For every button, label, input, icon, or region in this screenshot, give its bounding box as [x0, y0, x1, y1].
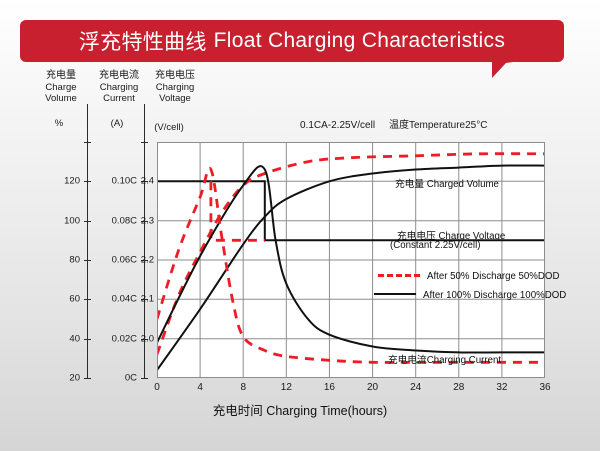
axis-unit-voltage: (V/cell): [140, 122, 198, 133]
axis-tick-label-volume: 60: [36, 294, 80, 305]
axis-tick-mark: [84, 260, 91, 261]
x-axis-tick-label: 32: [489, 382, 515, 393]
x-axis-tick-label: 28: [446, 382, 472, 393]
condition-rate: 0.1CA-2.25V/cell: [300, 120, 375, 131]
title-en: Float Charging Characteristics: [214, 29, 505, 53]
axis-tick-label-volume: 80: [36, 255, 80, 266]
series-line: [157, 165, 545, 370]
x-axis-title: 充电时间 Charging Time(hours): [0, 400, 600, 419]
chart-page: 浮充特性曲线Float Charging Characteristics 充电量…: [0, 0, 600, 451]
axis-header-volume-en1: Charge: [32, 82, 90, 94]
axis-header-volume-en2: Volume: [32, 93, 90, 105]
axis-header-charging-voltage: 充电电压 Charging Voltage: [146, 70, 204, 105]
x-axis-tick-label: 4: [187, 382, 213, 393]
axis-header-voltage-cn: 充电电压: [146, 70, 204, 82]
x-axis-tick-label: 36: [532, 382, 558, 393]
axis-tick-mark: [141, 142, 148, 143]
x-axis-tick-label: 8: [230, 382, 256, 393]
title-banner: 浮充特性曲线Float Charging Characteristics: [20, 20, 564, 62]
axis-tick-label-voltage: 2.4: [110, 176, 154, 187]
axis-tick-mark: [141, 378, 148, 379]
x-axis-title-cn: 充电时间: [213, 404, 263, 418]
axis-tick-mark: [84, 299, 91, 300]
x-axis-tick-label: 24: [403, 382, 429, 393]
axis-header-current-cn: 充电电流: [90, 70, 148, 82]
banner-tail-icon: [492, 59, 532, 78]
axis-tick-label-volume: 120: [36, 176, 80, 187]
axis-header-charging-current: 充电电流 Charging Current: [90, 70, 148, 105]
annotation-charged-volume: 充电量 Charged Volume: [395, 176, 499, 190]
condition-note: 0.1CA-2.25V/cell 温度Temperature25°C: [300, 116, 487, 131]
x-axis-tick-label: 0: [144, 382, 170, 393]
axis-tick-label-voltage: 2.2: [110, 255, 154, 266]
annotation-charging-current: 充电电流Charging Current: [388, 352, 501, 366]
axis-unit-current: (A): [88, 118, 146, 129]
axis-tick-mark: [84, 339, 91, 340]
axis-tick-label-volume: 20: [36, 373, 80, 384]
axis-line-volume: [87, 104, 88, 378]
condition-temperature: 温度Temperature25°C: [389, 120, 487, 131]
x-axis-tick-label: 16: [316, 382, 342, 393]
legend-swatch-dashed-icon: [378, 274, 420, 277]
legend-label-dod100: After 100% Discharge 100%DOD: [423, 290, 566, 301]
axis-tick-mark: [84, 181, 91, 182]
axis-tick-label-current: 0C: [93, 373, 137, 384]
axis-header-current-en2: Current: [90, 93, 148, 105]
axis-tick-mark: [84, 221, 91, 222]
series-line: [157, 166, 545, 352]
legend-swatch-solid-icon: [374, 293, 416, 295]
legend-item-dod100: After 100% Discharge 100%DOD: [374, 290, 566, 301]
axis-header-voltage-en1: Charging: [146, 82, 204, 94]
axis-tick-label-volume: 40: [36, 333, 80, 344]
axis-tick-label-voltage: 2.3: [110, 215, 154, 226]
x-axis-tick-label: 20: [360, 382, 386, 393]
x-axis-tick-label: 12: [273, 382, 299, 393]
axis-tick-label-voltage: 2.0: [110, 333, 154, 344]
axis-header-current-en1: Charging: [90, 82, 148, 94]
axis-unit-volume: %: [30, 118, 88, 129]
axis-header-volume-cn: 充电量: [32, 70, 90, 82]
legend-item-dod50: After 50% Discharge 50%DOD: [378, 271, 559, 282]
axis-tick-label-volume: 100: [36, 215, 80, 226]
axis-header-charge-volume: 充电量 Charge Volume: [32, 70, 90, 105]
axis-tick-label-voltage: 2.1: [110, 294, 154, 305]
axis-tick-mark: [84, 378, 91, 379]
series-line: [157, 168, 545, 362]
x-axis-title-en: Charging Time(hours): [266, 404, 387, 418]
axis-header-voltage-en2: Voltage: [146, 93, 204, 105]
axis-tick-mark: [84, 142, 91, 143]
annotation-charge-voltage-sub: (Constant 2.25V/cell): [390, 240, 480, 251]
title-cn: 浮充特性曲线: [79, 26, 207, 56]
title-text: 浮充特性曲线Float Charging Characteristics: [20, 20, 564, 62]
legend-label-dod50: After 50% Discharge 50%DOD: [427, 271, 559, 282]
